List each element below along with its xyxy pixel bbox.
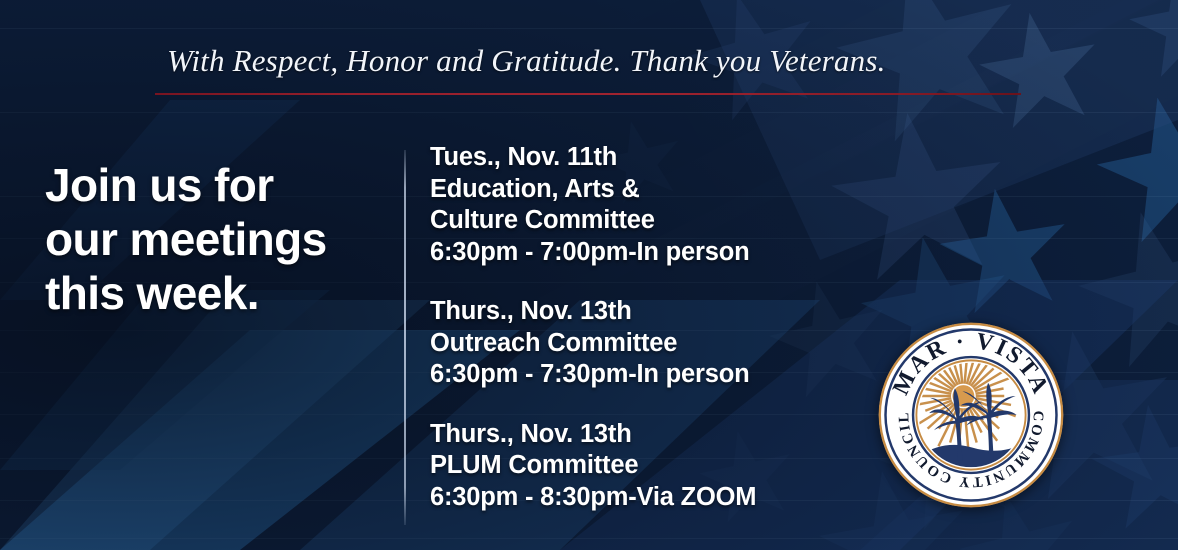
veterans-meetings-banner: With Respect, Honor and Gratitude. Thank… bbox=[0, 0, 1178, 550]
meeting-time: 6:30pm - 8:30pm-Via ZOOM bbox=[430, 482, 900, 514]
join-us-heading: Join us for our meetings this week. bbox=[45, 158, 390, 320]
meeting-date: Thurs., Nov. 13th bbox=[430, 296, 900, 328]
header-red-rule bbox=[155, 93, 1021, 95]
meeting-item: Thurs., Nov. 13th PLUM Committee 6:30pm … bbox=[430, 419, 900, 514]
mar-vista-community-council-logo: MAR · VISTA COMMUNITY COUNCIL bbox=[876, 320, 1066, 510]
meeting-date: Thurs., Nov. 13th bbox=[430, 419, 900, 451]
meeting-date: Tues., Nov. 11th bbox=[430, 142, 900, 174]
meeting-name-line-1: PLUM Committee bbox=[430, 450, 900, 482]
meeting-time: 6:30pm - 7:00pm-In person bbox=[430, 237, 900, 269]
meeting-name-line-1: Education, Arts & bbox=[430, 174, 900, 206]
meetings-list: Tues., Nov. 11th Education, Arts & Cultu… bbox=[430, 142, 900, 513]
cta-line-1: Join us for bbox=[45, 158, 390, 212]
meeting-name-line-1: Outreach Committee bbox=[430, 328, 900, 360]
meeting-item: Thurs., Nov. 13th Outreach Committee 6:3… bbox=[430, 296, 900, 391]
cta-line-2: our meetings bbox=[45, 212, 390, 266]
banner-header: With Respect, Honor and Gratitude. Thank… bbox=[0, 44, 1178, 78]
meeting-time: 6:30pm - 7:30pm-In person bbox=[430, 359, 900, 391]
meeting-item: Tues., Nov. 11th Education, Arts & Cultu… bbox=[430, 142, 900, 268]
cta-line-3: this week. bbox=[45, 266, 390, 320]
headline-text: With Respect, Honor and Gratitude. Thank… bbox=[0, 44, 1178, 78]
logo-seal-graphic: MAR · VISTA COMMUNITY COUNCIL bbox=[876, 320, 1066, 510]
vertical-divider bbox=[404, 150, 406, 525]
meeting-name-line-2: Culture Committee bbox=[430, 205, 900, 237]
